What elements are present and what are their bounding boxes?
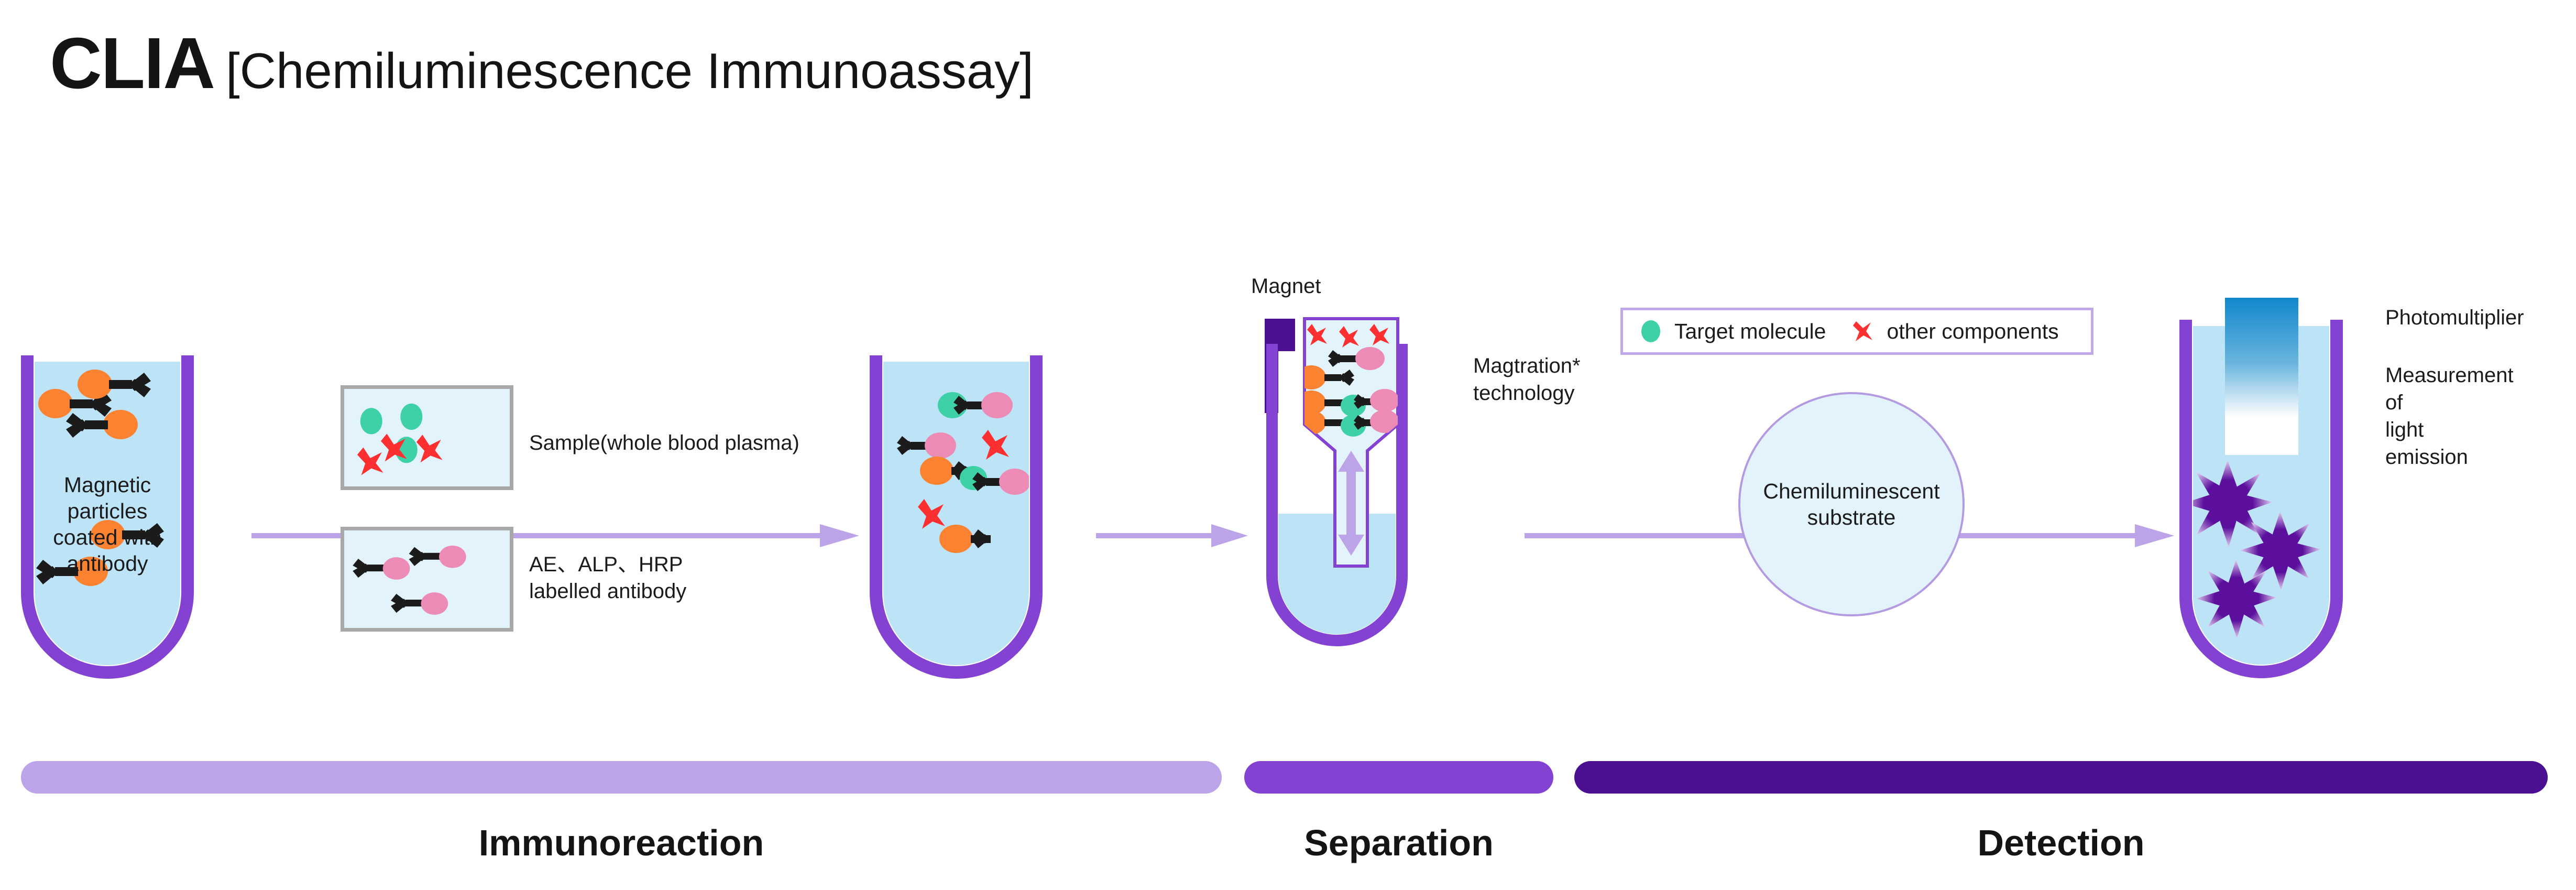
phase-label-immunoreaction: Immunoreaction [21, 822, 1222, 864]
labelled-antibody-particle-icon [409, 546, 466, 568]
other-components-icon [1851, 319, 1875, 343]
phase-label-separation: Separation [1244, 822, 1553, 864]
phase-bar-separation [1244, 761, 1553, 794]
labelled-antibody-box-label: AE、ALP、HRP labelled antibody [529, 551, 823, 605]
labelled-antibody-particle-icon [353, 557, 410, 580]
tube-immunoreaction [870, 330, 1043, 666]
tube-detection [2174, 294, 2373, 681]
sample-box [341, 385, 513, 490]
other-component-icon [357, 448, 383, 475]
page-title: CLIA [Chemiluminescence Immunoassay] [50, 27, 1034, 100]
legend-item-target: Target molecule [1639, 319, 1826, 344]
magtration-technology-label: Magtration* technology [1473, 352, 1581, 407]
labelled-antibody-box [341, 527, 513, 632]
photomultiplier-label: Photomultiplier [2385, 304, 2524, 331]
tube-separation [1247, 294, 1488, 660]
measurement-label: Measurement of light emission [2385, 362, 2514, 471]
phase-bar-immunoreaction [21, 761, 1222, 794]
target-molecule-icon [400, 404, 422, 430]
phase-label-detection: Detection [1574, 822, 2548, 864]
title-expansion: [Chemiluminescence Immunoassay] [226, 46, 1034, 96]
chemiluminescent-substrate-node: Chemiluminescent substrate [1738, 392, 1965, 616]
labelled-antibody-particle-icon [391, 592, 448, 615]
substrate-label: Chemiluminescent substrate [1763, 478, 1939, 530]
phase-bar-detection [1574, 761, 2548, 794]
legend-item-other: other components [1851, 319, 2058, 344]
other-component-icon [416, 435, 443, 462]
legend-label-other: other components [1887, 319, 2058, 344]
photomultiplier-icon [2225, 298, 2298, 417]
legend: Target molecule other components [1620, 308, 2093, 355]
tube1-caption: Magnetic particles coated with antibody [21, 472, 194, 577]
sample-box-label: Sample(whole blood plasma) [529, 430, 823, 457]
target-molecule-icon [360, 408, 382, 434]
legend-label-target: Target molecule [1674, 319, 1826, 344]
title-acronym: CLIA [50, 27, 214, 100]
process-arrow-icon [1096, 524, 1248, 547]
target-molecule-icon [1639, 319, 1663, 343]
